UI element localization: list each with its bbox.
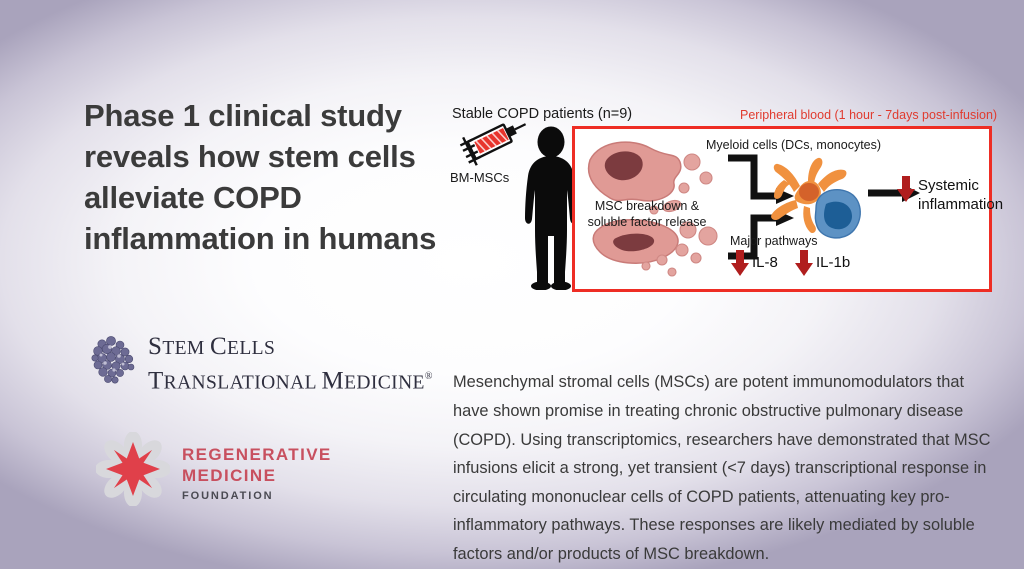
regenerative-medicine-foundation-logo: REGENERATIVE MEDICINE FOUNDATION [96,432,376,506]
sctm-line1-ells: ELLS [227,338,275,359]
registered-trademark-symbol: ® [425,371,433,382]
dendritic-cell-icon [764,156,874,242]
sctm-line1-tem: TEM [162,338,210,359]
page-title: Phase 1 clinical study reveals how stem … [84,95,444,259]
red-down-arrow-icon [896,176,916,202]
msc-breakdown-caption: MSC breakdown & soluble factor release [584,198,710,230]
systemic-inflammation-label: Systemic inflammation [918,176,1006,214]
red-down-arrow-icon [730,250,750,276]
rmf-line-medicine: MEDICINE [182,465,332,486]
red-down-arrow-icon [794,250,814,276]
star-flower-icon [96,432,170,506]
poster-card: Phase 1 clinical study reveals how stem … [0,0,1024,569]
sctm-wordmark: STEM CELLS TRANSLATIONAL MEDICINE® [148,333,433,397]
il1b-label: IL-1b [816,254,850,271]
sctm-line2-cap-t: T [148,367,164,394]
sctm-line1-cap-c: C [210,333,227,360]
summary-paragraph: Mesenchymal stromal cells (MSCs) are pot… [453,368,998,568]
sctm-line2-edicine: EDICINE [344,372,425,393]
rmf-line-foundation: FOUNDATION [182,490,332,502]
stem-cell-cluster-icon [86,334,142,388]
il8-label: IL-8 [752,254,778,271]
bm-mscs-label: BM-MSCs [450,170,509,185]
sctm-line2-cap-m: M [321,367,344,394]
major-pathways-label: Major pathways [730,234,818,248]
study-diagram: Stable COPD patients (n=9) Peripheral bl… [448,100,996,296]
sctm-line2-ranslational: RANSLATIONAL [164,372,322,393]
sctm-line1-cap-s: S [148,333,162,360]
peripheral-blood-label: Peripheral blood (1 hour - 7days post-in… [740,108,997,122]
myeloid-cells-label: Myeloid cells (DCs, monocytes) [706,138,881,152]
rmf-wordmark: REGENERATIVE MEDICINE FOUNDATION [182,444,332,502]
rmf-line-regenerative: REGENERATIVE [182,444,332,465]
stem-cells-translational-medicine-logo: STEM CELLS TRANSLATIONAL MEDICINE® [86,332,422,390]
